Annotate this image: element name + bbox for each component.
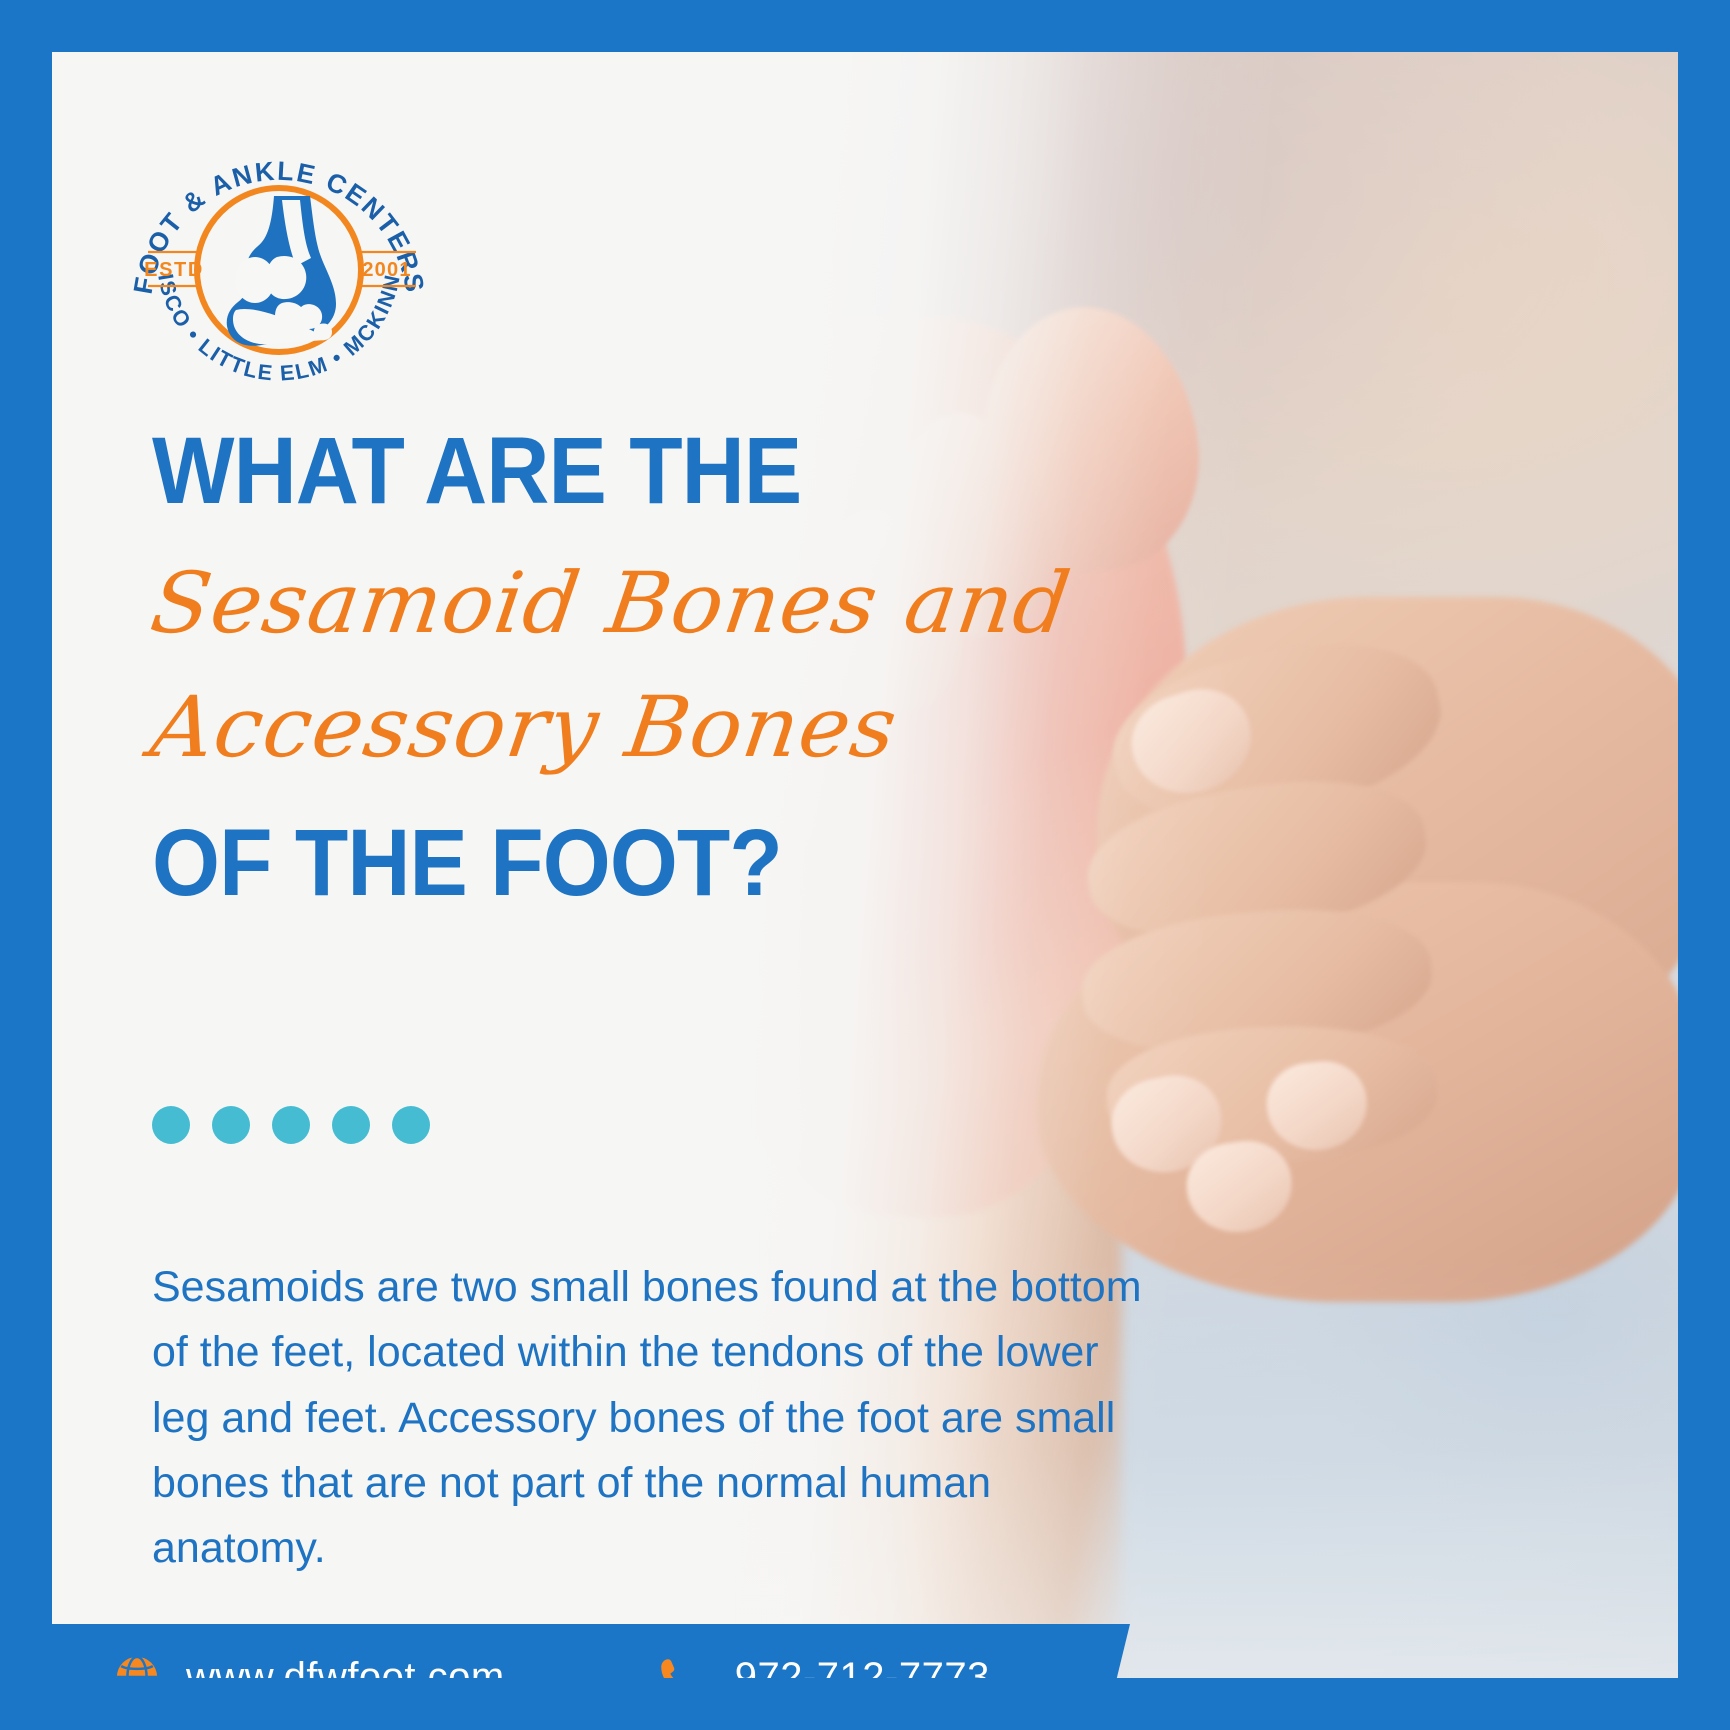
content-card: FOOT & ANKLE CENTERS FRISCO • LITTLE ELM… <box>52 52 1678 1678</box>
brand-logo: FOOT & ANKLE CENTERS FRISCO • LITTLE ELM… <box>124 124 434 414</box>
phone-icon <box>655 1654 701 1678</box>
logo-estd-year: 2001 <box>362 259 411 281</box>
divider-dot <box>332 1106 370 1144</box>
footer-phone-item[interactable]: 972-712-7773 <box>655 1654 990 1678</box>
footer-website-item[interactable]: www.dfwfoot.com <box>114 1654 505 1678</box>
foot-ankle-bones-icon <box>227 196 336 346</box>
divider-dot <box>392 1106 430 1144</box>
headline-block: WHAT ARE THE Sesamoid Bones and Accessor… <box>152 424 952 911</box>
divider-dot <box>152 1106 190 1144</box>
divider-dot <box>272 1106 310 1144</box>
headline-line-1: WHAT ARE THE <box>152 424 888 519</box>
dot-divider <box>152 1106 430 1144</box>
contact-footer-bar: www.dfwfoot.com 972-712-7773 <box>52 1624 1130 1678</box>
globe-icon <box>114 1654 160 1678</box>
headline-line-2: OF THE FOOT? <box>152 816 888 911</box>
headline-script-line-1: Sesamoid Bones and <box>143 541 976 665</box>
footer-website-text: www.dfwfoot.com <box>186 1655 505 1679</box>
logo-estd-label: ESTD <box>144 259 204 281</box>
divider-dot <box>212 1106 250 1144</box>
headline-script-block: Sesamoid Bones and Accessory Bones <box>152 541 952 790</box>
footer-phone-text: 972-712-7773 <box>735 1655 990 1679</box>
headline-script-line-2: Accessory Bones <box>143 665 976 789</box>
body-paragraph: Sesamoids are two small bones found at t… <box>152 1255 1152 1582</box>
poster-root: FOOT & ANKLE CENTERS FRISCO • LITTLE ELM… <box>0 0 1730 1730</box>
